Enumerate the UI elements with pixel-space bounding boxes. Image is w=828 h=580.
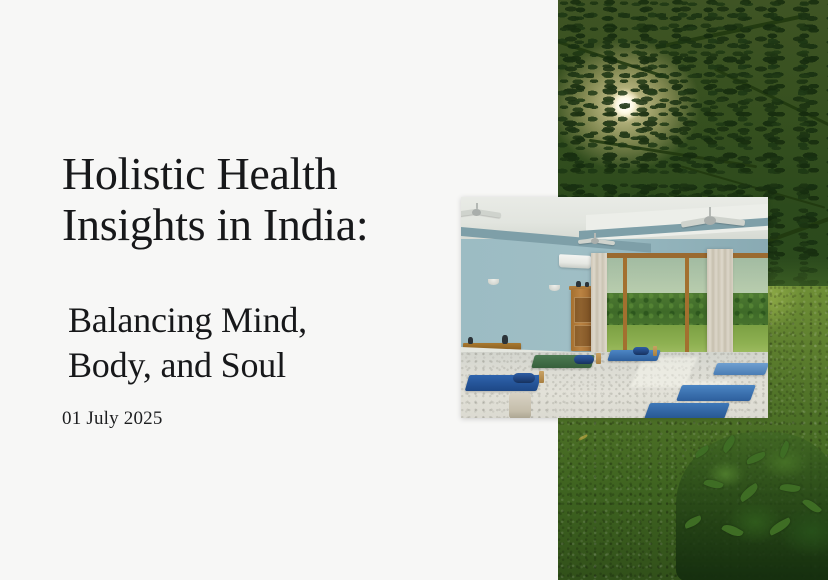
sliding-glass-doors [599,253,768,357]
yoga-block [539,371,544,383]
yoga-block [596,353,601,364]
decor-vase [585,282,589,287]
yoga-studio-interior-photo [461,197,768,418]
title-block: Holistic Health Insights in India: [62,148,492,250]
meditation-pouf [509,393,531,418]
yoga-mat [644,403,730,418]
decor-vase [502,335,508,344]
garden-shrub [676,432,828,580]
sun-flare [610,90,640,120]
door-mullion [623,253,627,357]
decor-vase [576,281,581,287]
window-curtain [591,253,607,357]
wall-sconce [488,279,499,285]
yoga-mat [713,363,768,375]
yoga-bolster [633,347,649,355]
presentation-title-slide: Holistic Health Insights in India: Balan… [0,0,828,580]
air-conditioner-unit [559,254,591,269]
door-mullion [685,253,689,357]
yoga-bolster [574,355,594,364]
yoga-block [653,346,657,356]
page-title: Holistic Health Insights in India: [62,148,492,250]
door-frame-top [599,253,768,258]
slide-date: 01 July 2025 [62,408,163,430]
window-curtain [707,249,733,359]
decor-vase [468,337,473,344]
yoga-bolster [513,373,535,383]
wall-sconce [549,285,560,291]
page-subtitle: Balancing Mind, Body, and Soul [68,298,488,388]
yoga-mat [676,385,756,401]
